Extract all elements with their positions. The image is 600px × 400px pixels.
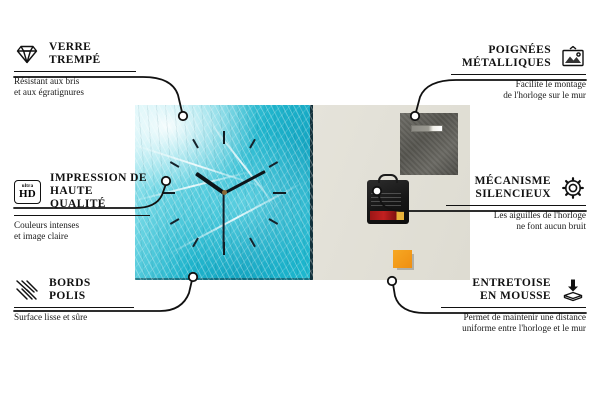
divider bbox=[441, 307, 586, 308]
clock-dial bbox=[135, 105, 313, 280]
feature-description: Couleurs intenses et image claire bbox=[14, 220, 150, 242]
feature-mecanisme: MÉCANISME SILENCIEUX Les aiguilles de l'… bbox=[446, 175, 586, 232]
foam-spacer bbox=[393, 250, 412, 268]
product-photo bbox=[135, 105, 470, 280]
infographic-root: VERRE TREMPÉ Résistant aux bris et aux é… bbox=[0, 0, 600, 400]
divider bbox=[446, 205, 586, 206]
ultra-hd-icon: ultra HD bbox=[14, 180, 41, 204]
feature-title: IMPRESSION DE HAUTE QUALITÉ bbox=[50, 172, 150, 211]
feature-description: Permet de maintenir une distance uniform… bbox=[441, 312, 586, 334]
feature-description: Les aiguilles de l'horloge ne font aucun… bbox=[446, 210, 586, 232]
diamond-icon bbox=[14, 41, 40, 67]
feature-title: MÉCANISME SILENCIEUX bbox=[475, 175, 551, 201]
feature-impression: ultra HD IMPRESSION DE HAUTE QUALITÉ Cou… bbox=[14, 172, 150, 242]
divider bbox=[14, 215, 150, 216]
feature-poignees: POIGNÉES MÉTALLIQUES Facilite le montage… bbox=[451, 44, 586, 101]
feature-description: Résistant aux bris et aux égratignures bbox=[14, 76, 136, 98]
divider bbox=[14, 71, 136, 72]
clock-hour-hand bbox=[195, 171, 225, 194]
feature-bords-polis: BORDS POLIS Surface lisse et sûre bbox=[14, 277, 134, 323]
foam-spacer-icon bbox=[560, 277, 586, 303]
clock-panel bbox=[135, 105, 313, 280]
mechanism-hanging-loop bbox=[378, 174, 398, 183]
feature-verre-trempe: VERRE TREMPÉ Résistant aux bris et aux é… bbox=[14, 41, 136, 98]
feature-title: ENTRETOISE EN MOUSSE bbox=[472, 277, 551, 303]
battery bbox=[370, 211, 404, 220]
polished-edges-icon bbox=[14, 277, 40, 303]
clock-second-hand bbox=[223, 193, 225, 249]
hanger-slot bbox=[411, 125, 443, 132]
metal-hanger-plate bbox=[400, 113, 458, 175]
feature-description: Facilite le montage de l'horloge sur le … bbox=[451, 79, 586, 101]
gear-icon bbox=[560, 175, 586, 201]
feature-title: VERRE TREMPÉ bbox=[49, 41, 101, 67]
feature-entretoise: ENTRETOISE EN MOUSSE Permet de maintenir… bbox=[441, 277, 586, 334]
feature-title: BORDS POLIS bbox=[49, 277, 91, 303]
picture-frame-icon bbox=[560, 44, 586, 70]
feature-description: Surface lisse et sûre bbox=[14, 312, 134, 323]
clock-center-cap bbox=[222, 190, 227, 195]
divider bbox=[451, 74, 586, 75]
mechanism-label bbox=[371, 192, 401, 206]
divider bbox=[14, 307, 134, 308]
clock-mechanism-box bbox=[367, 180, 409, 224]
feature-title: POIGNÉES MÉTALLIQUES bbox=[462, 44, 551, 70]
